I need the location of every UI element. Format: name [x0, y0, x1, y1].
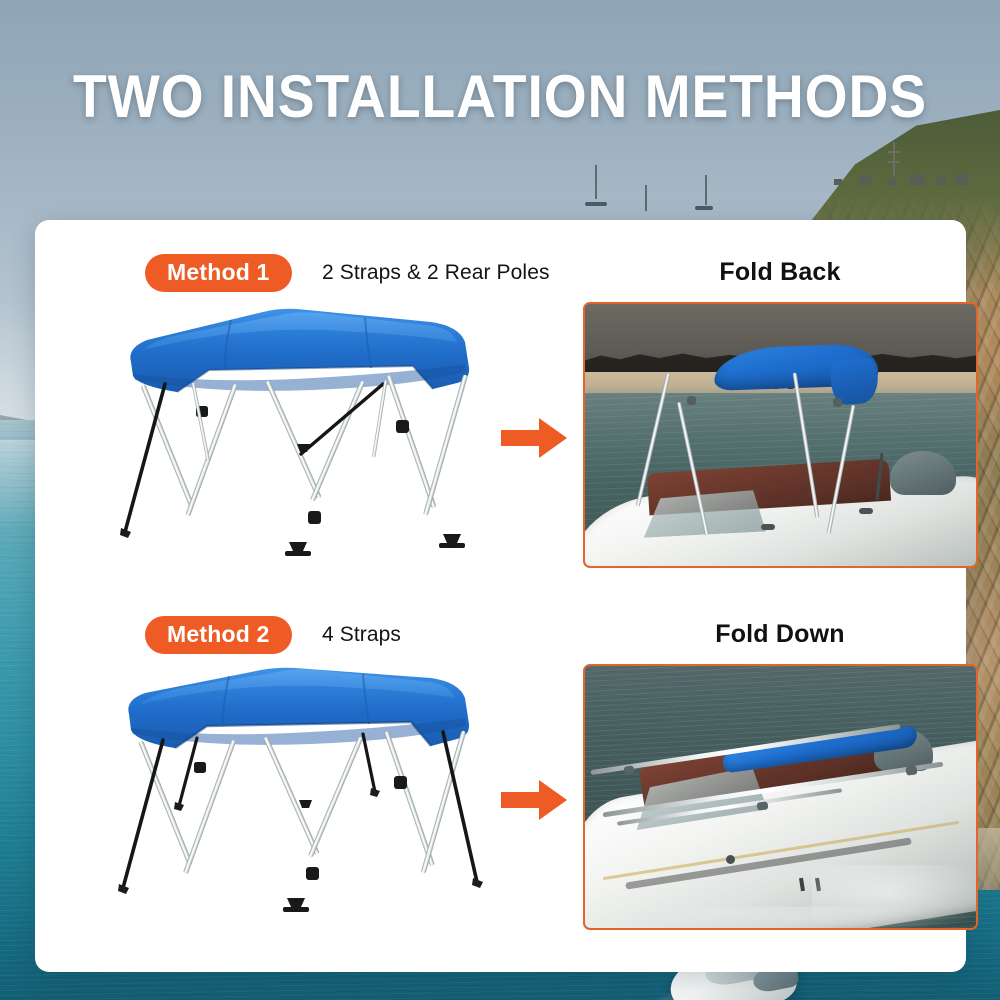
method-block-2: Method 2 4 Straps Fold Down [35, 616, 966, 956]
method-2-badge: Method 2 [145, 616, 292, 654]
ridge-antenna [893, 142, 895, 176]
arrow-right-icon [501, 780, 567, 820]
method-2-body [35, 662, 966, 952]
page-title: TWO INSTALLATION METHODS [40, 62, 960, 131]
method-1-badge: Method 1 [145, 254, 292, 292]
fold-back-heading: Fold Back [580, 258, 980, 287]
method-1-body [35, 300, 966, 590]
bimini-illustration-2 [113, 668, 493, 943]
method-block-1: Method 1 2 Straps & 2 Rear Poles Fold Ba… [35, 254, 966, 594]
arrow-right-icon [501, 418, 567, 458]
far-boat-silhouette [585, 202, 607, 206]
content-card: Method 1 2 Straps & 2 Rear Poles Fold Ba… [35, 220, 966, 972]
method-1-header: Method 1 2 Straps & 2 Rear Poles Fold Ba… [35, 254, 966, 300]
photo-fold-down [583, 664, 978, 930]
method-1-caption: 2 Straps & 2 Rear Poles [322, 261, 550, 285]
far-mast-3 [705, 175, 707, 205]
bimini-illustration-1 [113, 306, 493, 581]
far-mast-2 [645, 185, 647, 211]
fold-down-heading: Fold Down [580, 620, 980, 649]
method-2-header: Method 2 4 Straps Fold Down [35, 616, 966, 662]
method-2-caption: 4 Straps [322, 623, 401, 647]
far-mast-1 [595, 165, 597, 199]
far-boat-silhouette [695, 206, 713, 210]
photo-fold-back [583, 302, 978, 568]
ridge-buildings [795, 135, 975, 185]
